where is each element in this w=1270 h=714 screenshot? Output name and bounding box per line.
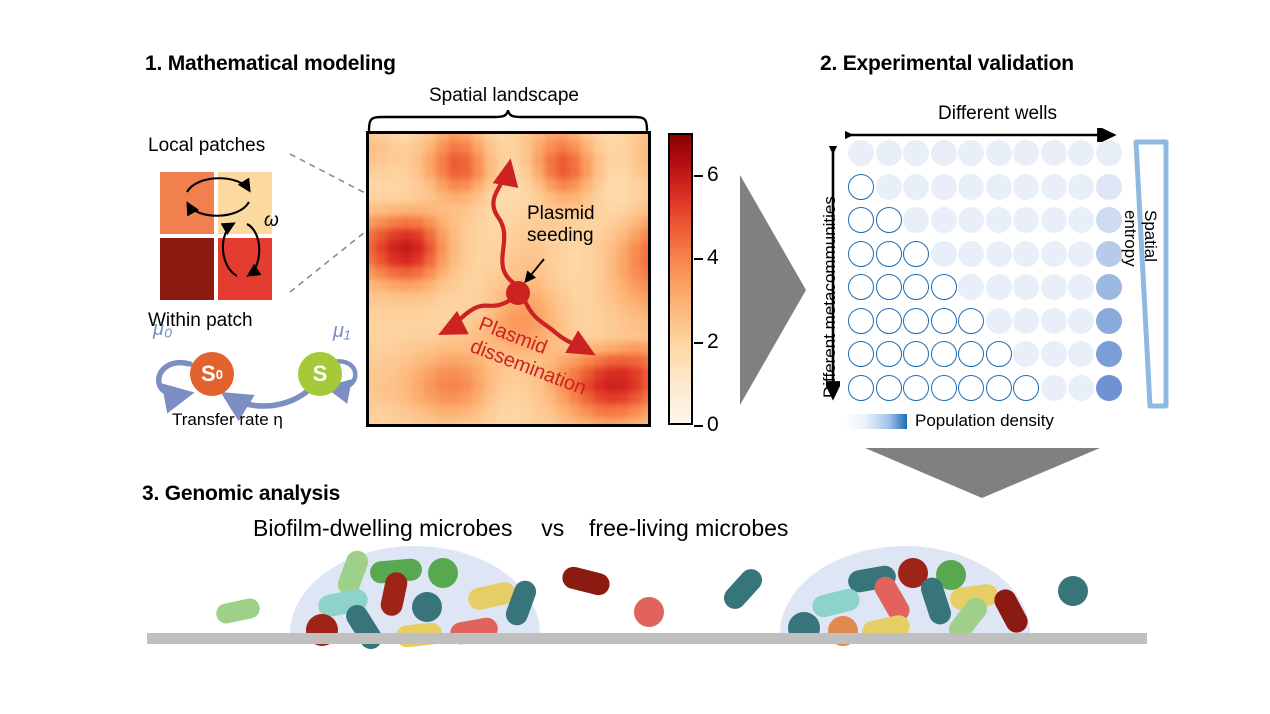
mu1-label: μ₁	[333, 320, 350, 343]
well-r1-c4[interactable]	[931, 140, 957, 166]
well-r4-c1[interactable]	[848, 241, 874, 267]
well-r3-c6[interactable]	[986, 207, 1012, 233]
well-r8-c9[interactable]	[1068, 375, 1094, 401]
well-r4-c9[interactable]	[1068, 241, 1094, 267]
omega-label: ω	[264, 210, 279, 232]
colorbar-tick-0	[694, 425, 703, 427]
well-r3-c10[interactable]	[1096, 207, 1122, 233]
colorbar-label-0: 0	[707, 414, 719, 435]
well-r3-c8[interactable]	[1041, 207, 1067, 233]
well-r7-c8[interactable]	[1041, 341, 1067, 367]
different-wells-label: Different wells	[938, 103, 1057, 125]
colorbar-tick-6	[694, 175, 703, 177]
well-r1-c5[interactable]	[958, 140, 984, 166]
well-r5-c3[interactable]	[903, 274, 929, 300]
well-r1-c9[interactable]	[1068, 140, 1094, 166]
well-r1-c2[interactable]	[876, 140, 902, 166]
node-s0-text: S	[201, 361, 216, 387]
mu0-label: μ₀	[153, 318, 172, 341]
colorbar-label-4: 4	[707, 247, 719, 268]
well-r6-c7[interactable]	[1013, 308, 1039, 334]
heatmap-colorbar	[668, 133, 693, 425]
well-r6-c4[interactable]	[931, 308, 957, 334]
well-r7-c4[interactable]	[931, 341, 957, 367]
well-r8-c6[interactable]	[986, 375, 1012, 401]
well-r1-c10[interactable]	[1096, 140, 1122, 166]
well-r7-c3[interactable]	[903, 341, 929, 367]
well-r4-c4[interactable]	[931, 241, 957, 267]
well-r2-c3[interactable]	[903, 174, 929, 200]
well-r6-c2[interactable]	[876, 308, 902, 334]
well-r4-c3[interactable]	[903, 241, 929, 267]
well-r4-c5[interactable]	[958, 241, 984, 267]
well-r1-c1[interactable]	[848, 140, 874, 166]
panel-title-modeling: 1. Mathematical modeling	[145, 52, 396, 76]
well-r8-c5[interactable]	[958, 375, 984, 401]
well-r1-c7[interactable]	[1013, 140, 1039, 166]
well-r3-c3[interactable]	[903, 207, 929, 233]
well-r7-c7[interactable]	[1013, 341, 1039, 367]
microbe-rod-14	[560, 565, 612, 598]
well-r5-c5[interactable]	[958, 274, 984, 300]
well-r7-c5[interactable]	[958, 341, 984, 367]
comparison-heading: Biofilm-dwelling microbes vs free-living…	[253, 515, 788, 542]
arrow-validation-to-genomics	[865, 448, 1100, 498]
well-r4-c6[interactable]	[986, 241, 1012, 267]
well-r3-c7[interactable]	[1013, 207, 1039, 233]
node-s: S	[298, 352, 342, 396]
well-r5-c6[interactable]	[986, 274, 1012, 300]
well-r7-c6[interactable]	[986, 341, 1012, 367]
well-r1-c3[interactable]	[903, 140, 929, 166]
well-r8-c8[interactable]	[1041, 375, 1067, 401]
patch-exchange-arrows	[175, 168, 305, 308]
well-r6-c10[interactable]	[1096, 308, 1122, 334]
well-r5-c2[interactable]	[876, 274, 902, 300]
microbe-coccus-3	[428, 558, 458, 588]
population-density-label: Population density	[915, 411, 1054, 431]
well-r1-c8[interactable]	[1041, 140, 1067, 166]
well-r4-c2[interactable]	[876, 241, 902, 267]
well-r6-c3[interactable]	[903, 308, 929, 334]
well-r7-c2[interactable]	[876, 341, 902, 367]
well-r5-c10[interactable]	[1096, 274, 1122, 300]
well-r4-c8[interactable]	[1041, 241, 1067, 267]
well-r6-c9[interactable]	[1068, 308, 1094, 334]
well-r8-c1[interactable]	[848, 375, 874, 401]
panel-title-validation: 2. Experimental validation	[820, 52, 1074, 76]
plasmid-seeding-line1: Plasmid	[527, 203, 595, 225]
well-r2-c9[interactable]	[1068, 174, 1094, 200]
microbe-coccus-15	[634, 597, 664, 627]
local-patches-label: Local patches	[148, 135, 265, 157]
well-r2-c6[interactable]	[986, 174, 1012, 200]
well-r2-c5[interactable]	[958, 174, 984, 200]
well-r4-c10[interactable]	[1096, 241, 1122, 267]
well-r6-c5[interactable]	[958, 308, 984, 334]
well-r2-c1[interactable]	[848, 174, 874, 200]
well-r5-c8[interactable]	[1041, 274, 1067, 300]
well-r7-c9[interactable]	[1068, 341, 1094, 367]
well-plate-grid[interactable]	[848, 140, 1120, 408]
colorbar-label-2: 2	[707, 331, 719, 352]
well-r3-c4[interactable]	[931, 207, 957, 233]
well-r8-c10[interactable]	[1096, 375, 1122, 401]
well-r8-c4[interactable]	[931, 375, 957, 401]
well-r2-c10[interactable]	[1096, 174, 1122, 200]
well-r2-c4[interactable]	[931, 174, 957, 200]
well-r5-c1[interactable]	[848, 274, 874, 300]
well-r7-c10[interactable]	[1096, 341, 1122, 367]
well-r3-c5[interactable]	[958, 207, 984, 233]
well-r3-c1[interactable]	[848, 207, 874, 233]
well-r2-c7[interactable]	[1013, 174, 1039, 200]
node-s-text: S	[313, 361, 328, 387]
well-r6-c1[interactable]	[848, 308, 874, 334]
arrow-modeling-to-validation	[740, 175, 810, 405]
well-r6-c8[interactable]	[1041, 308, 1067, 334]
different-metacommunities-label: Different metacommunities	[820, 196, 840, 398]
well-r3-c2[interactable]	[876, 207, 902, 233]
plasmid-seeding-label: Plasmid seeding	[527, 203, 595, 248]
well-r3-c9[interactable]	[1068, 207, 1094, 233]
colorbar-tick-2	[694, 342, 703, 344]
well-r4-c7[interactable]	[1013, 241, 1039, 267]
colorbar-tick-4	[694, 258, 703, 260]
well-r6-c6[interactable]	[986, 308, 1012, 334]
population-density-gradient	[845, 414, 907, 429]
well-r5-c9[interactable]	[1068, 274, 1094, 300]
spatial-landscape-label: Spatial landscape	[429, 85, 579, 107]
well-r8-c3[interactable]	[903, 375, 929, 401]
microbe-rod-13	[214, 597, 261, 626]
well-r8-c7[interactable]	[1013, 375, 1039, 401]
node-s0-subscript: 0	[216, 367, 223, 382]
colorbar-label-6: 6	[707, 164, 719, 185]
comparison-vs-label: vs	[541, 515, 564, 541]
microbe-coccus-6	[412, 592, 442, 622]
well-r2-c8[interactable]	[1041, 174, 1067, 200]
microbe-rod-16	[719, 565, 766, 614]
well-r8-c2[interactable]	[876, 375, 902, 401]
transfer-rate-label: Transfer rate η	[172, 410, 283, 430]
well-r7-c1[interactable]	[848, 341, 874, 367]
well-r5-c7[interactable]	[1013, 274, 1039, 300]
well-r1-c6[interactable]	[986, 140, 1012, 166]
well-r2-c2[interactable]	[876, 174, 902, 200]
comparison-right-label: free-living microbes	[589, 515, 788, 541]
microbe-coccus-17	[1058, 576, 1088, 606]
panel-title-genomics: 3. Genomic analysis	[142, 482, 340, 506]
plasmid-flow-arrows	[366, 131, 651, 427]
spatial-landscape-brace	[366, 110, 651, 132]
well-r5-c4[interactable]	[931, 274, 957, 300]
plasmid-seeding-line2: seeding	[527, 225, 595, 247]
spatial-entropy-label: Spatial entropy	[1120, 210, 1160, 320]
substrate-surface	[147, 633, 1147, 644]
node-s0: S0	[190, 352, 234, 396]
comparison-left-label: Biofilm-dwelling microbes	[253, 515, 512, 541]
